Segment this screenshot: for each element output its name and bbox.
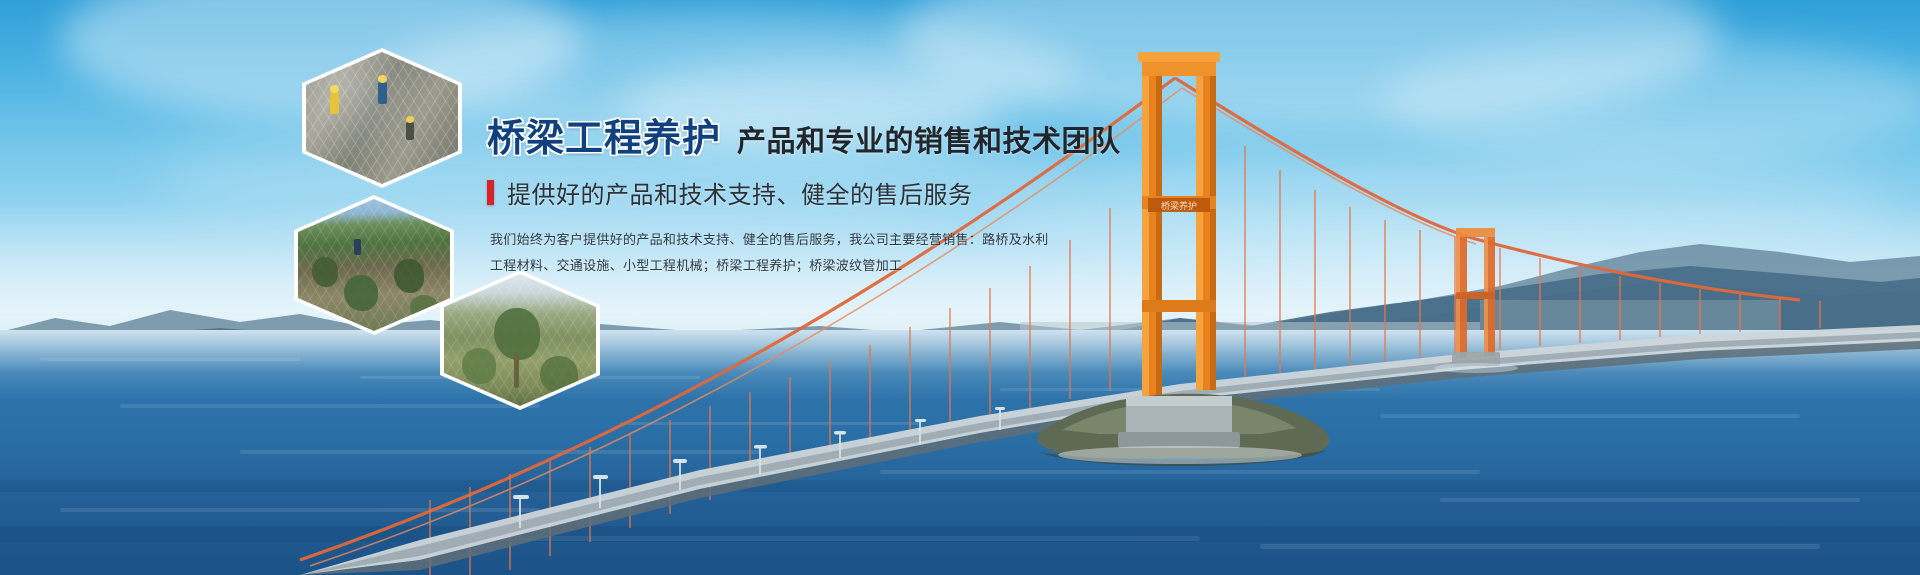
description-line: 工程材料、交通设施、小型工程机械；桥梁工程养护；桥梁波纹管加工 — [490, 256, 1127, 276]
suspension-bridge: 桥梁养护 — [0, 0, 1920, 575]
thumbnail-vegetated-slope-mesh[interactable] — [440, 270, 600, 410]
description-line: 我们始终为客户提供好的产品和技术支持、健全的售后服务，我公司主要经营销售：路桥及… — [490, 230, 1127, 250]
banner-copy: 桥梁工程养护产品和专业的销售和技术团队 提供好的产品和技术支持、健全的售后服务 … — [487, 120, 1127, 282]
svg-text:桥梁养护: 桥梁养护 — [1161, 200, 1197, 212]
subline: 提供好的产品和技术支持、健全的售后服务 — [487, 175, 1127, 210]
headline: 桥梁工程养护产品和专业的销售和技术团队 — [487, 120, 1127, 158]
thumbnail-rockfall-netting-workers[interactable] — [302, 48, 462, 188]
description-paragraph: 我们始终为客户提供好的产品和技术支持、健全的售后服务，我公司主要经营销售：路桥及… — [487, 230, 1127, 276]
headline-sub: 产品和专业的销售和技术团队 — [737, 126, 1121, 158]
accent-bar-icon — [487, 180, 494, 205]
subline-text: 提供好的产品和技术支持、健全的售后服务 — [507, 175, 973, 210]
hero-banner: 桥梁养护 — [0, 0, 1920, 575]
headline-main: 桥梁工程养护 — [487, 118, 721, 160]
thumbnail-slope-protection-mesh[interactable] — [294, 195, 454, 335]
